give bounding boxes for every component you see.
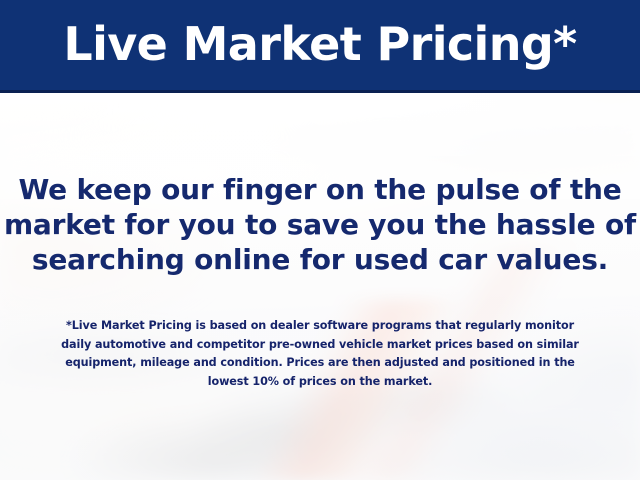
- headline-line-2: market for you to save you the hassle of: [0, 207, 640, 242]
- disclaimer-line-2: daily automotive and competitor pre-owne…: [0, 336, 640, 355]
- page-title: Live Market Pricing*: [0, 0, 640, 92]
- disclaimer-block: *Live Market Pricing is based on dealer …: [0, 317, 640, 391]
- disclaimer-line-1: *Live Market Pricing is based on dealer …: [0, 317, 640, 336]
- headline-line-3: searching online for used car values.: [0, 242, 640, 277]
- headline-block: We keep our finger on the pulse of the m…: [0, 172, 640, 277]
- disclaimer-line-3: equipment, mileage and condition. Prices…: [0, 354, 640, 373]
- live-market-pricing-banner: Live Market Pricing* We keep our finger …: [0, 0, 640, 480]
- headline-line-1: We keep our finger on the pulse of the: [0, 172, 640, 207]
- disclaimer-line-4: lowest 10% of prices on the market.: [0, 373, 640, 392]
